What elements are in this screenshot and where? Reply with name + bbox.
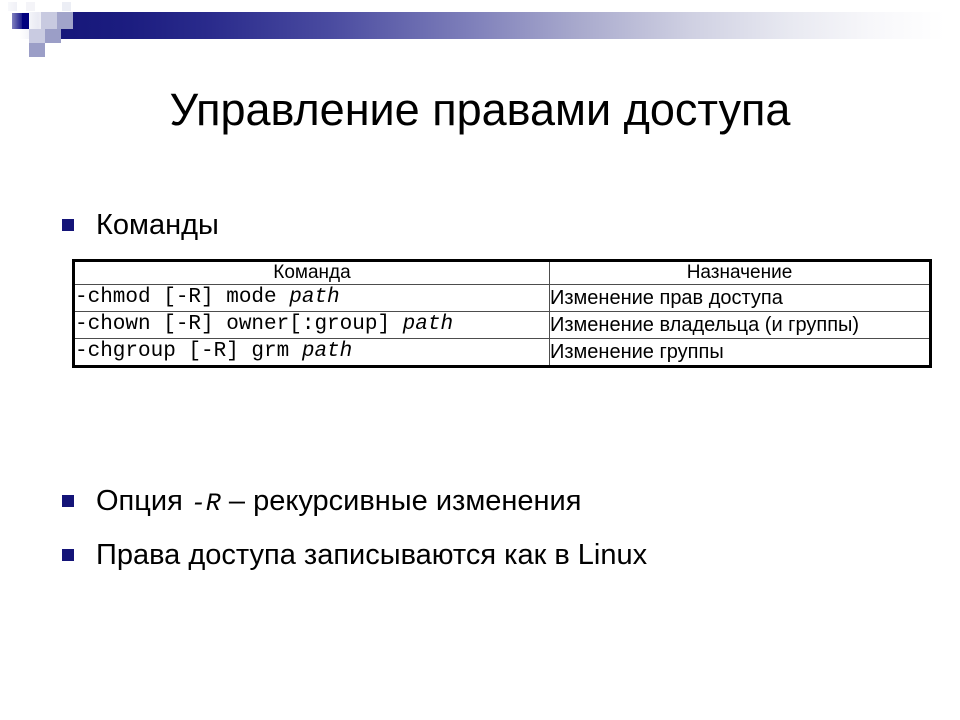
cell-purpose: Изменение группы (550, 339, 931, 367)
bullet-option-r: Опция -R – рекурсивные изменения (62, 484, 581, 521)
square-bullet-icon (62, 495, 74, 507)
square-bullet-icon (62, 219, 74, 231)
cell-purpose: Изменение прав доступа (550, 285, 931, 312)
bullet-permissions-label: Права доступа записываются как в Linux (96, 538, 647, 572)
slide-canvas: Управление правами доступа Команды Коман… (0, 0, 960, 720)
cell-command: -chmod [-R] mode path (74, 285, 550, 312)
header-gradient-bar (0, 12, 960, 39)
bullet-permissions: Права доступа записываются как в Linux (62, 538, 647, 572)
column-header-command: Команда (74, 261, 550, 285)
option-code: -R (191, 489, 221, 518)
square-bullet-icon (62, 549, 74, 561)
option-suffix: – рекурсивные изменения (221, 485, 582, 517)
command-text: -chmod [-R] mode (75, 286, 289, 309)
cell-command: -chgroup [-R] grm path (74, 339, 550, 367)
cell-purpose: Изменение владельца (и группы) (550, 312, 931, 339)
header-decoration (0, 0, 960, 60)
table-row: -chgroup [-R] grm path Изменение группы (74, 339, 931, 367)
table-row: -chown [-R] owner[:group] path Изменение… (74, 312, 931, 339)
deco-square-5 (41, 12, 57, 29)
command-text: -chgroup [-R] grm (75, 340, 302, 363)
deco-square-9 (29, 43, 45, 57)
deco-square-7 (29, 29, 45, 43)
command-path-arg: path (403, 313, 453, 336)
bullet-commands-label: Команды (96, 208, 219, 242)
deco-square-8 (45, 29, 61, 43)
table-header-row: Команда Назначение (74, 261, 931, 285)
deco-square-2 (26, 2, 35, 11)
deco-fade-left (0, 0, 22, 60)
slide-title: Управление правами доступа (0, 84, 960, 136)
deco-square-6 (57, 12, 73, 29)
command-text: -chown [-R] owner[:group] (75, 313, 403, 336)
bullet-commands: Команды (62, 208, 219, 242)
command-path-arg: path (302, 340, 352, 363)
bullet-option-r-label: Опция -R – рекурсивные изменения (96, 484, 581, 521)
option-prefix: Опция (96, 485, 191, 517)
deco-square-3 (62, 2, 71, 11)
commands-table: Команда Назначение -chmod [-R] mode path… (72, 259, 932, 368)
command-path-arg: path (289, 286, 339, 309)
cell-command: -chown [-R] owner[:group] path (74, 312, 550, 339)
column-header-purpose: Назначение (550, 261, 931, 285)
table-row: -chmod [-R] mode path Изменение прав дос… (74, 285, 931, 312)
